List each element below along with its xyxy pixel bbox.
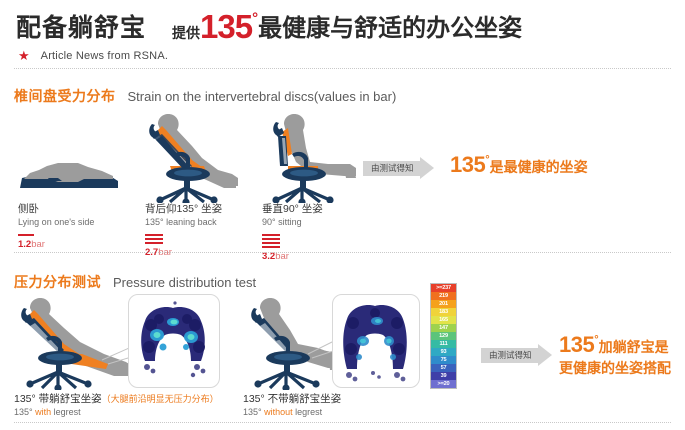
header-title-row: 配备躺舒宝 提供 135 ° 最健康与舒适的办公坐姿: [16, 8, 522, 43]
caption-lying-on-side: 侧卧 Lying on one's side 1.2bar: [18, 202, 94, 250]
caption-en: 135° with legrest: [14, 406, 219, 419]
conclusion-text-line1: 加躺舒宝是: [599, 339, 669, 355]
section1-divider: [14, 252, 671, 253]
arrow-head-icon: [538, 344, 552, 366]
lying-on-side-figure: [14, 148, 124, 201]
conclusion-angle: 135: [559, 332, 594, 357]
strain-bars: [262, 234, 323, 248]
header-angle-group: 提供 135 ° 最健康与舒适的办公坐姿: [172, 8, 522, 43]
conclusion-degree: °: [485, 154, 489, 166]
caption-en-emphasis: without: [264, 407, 293, 417]
page-title: 配备躺舒宝: [16, 13, 146, 43]
conclusion-angle: 135: [450, 152, 485, 177]
source-note: Article News from RSNA.: [41, 50, 168, 62]
arrow-head-icon: [420, 157, 434, 179]
caption-cn: 垂直90° 坐姿: [262, 202, 323, 216]
legend-row: 39: [431, 372, 456, 380]
header-subtitle: 最健康与舒适的办公坐姿: [258, 15, 522, 43]
header-angle-value: 135: [200, 10, 252, 43]
pressure-color-scale: >=237 219 201 183 165 147 129 111 93 75 …: [430, 283, 457, 389]
conclusion-text-line2: 更健康的坐姿搭配: [559, 358, 671, 378]
chair-leaning-back-135-figure: [140, 108, 252, 208]
section-pressure: 压力分布测试 Pressure distribution test: [0, 266, 685, 430]
strain-value: 1.2bar: [18, 239, 94, 250]
strain-bars: [18, 234, 94, 236]
section2-arrow-label: 由测试得知: [481, 348, 538, 363]
provide-label: 提供: [172, 23, 200, 43]
section2-divider: [14, 422, 671, 423]
page-header: 配备躺舒宝 提供 135 ° 最健康与舒适的办公坐姿 ★ Article New…: [0, 0, 685, 72]
section1-heading: 椎间盘受力分布 Strain on the intervertebral dis…: [14, 86, 396, 106]
conclusion-degree: °: [594, 334, 598, 346]
caption-leaning-back-135: 背后仰135° 坐姿 135° leaning back 2.7bar: [145, 202, 222, 258]
caption-en-emphasis: with: [35, 407, 51, 417]
section2-heading: 压力分布测试 Pressure distribution test: [14, 272, 256, 292]
infographic-page: 配备躺舒宝 提供 135 ° 最健康与舒适的办公坐姿 ★ Article New…: [0, 0, 685, 430]
header-divider: [14, 68, 671, 69]
caption-cn-note: （大腿前沿明显无压力分布）: [102, 394, 219, 404]
caption-cn: 135° 不带躺舒宝坐姿: [243, 393, 341, 405]
caption-cn: 背后仰135° 坐姿: [145, 202, 222, 216]
strain-bars: [145, 234, 222, 244]
legend-row: 129: [431, 332, 456, 340]
caption-cn: 侧卧: [18, 202, 94, 216]
section2-arrow: 由测试得知: [481, 344, 552, 366]
caption-en: 90° sitting: [262, 216, 323, 229]
section1-heading-cn: 椎间盘受力分布: [14, 86, 116, 106]
legend-row: 183: [431, 308, 456, 316]
conclusion-text: 是最健康的坐姿: [490, 159, 588, 175]
legend-row: 111: [431, 340, 456, 348]
caption-cn-row: 135° 带躺舒宝坐姿（大腿前沿明显无压力分布）: [14, 392, 219, 406]
header-degree-symbol: °: [252, 10, 258, 27]
source-note-row: ★ Article News from RSNA.: [18, 49, 168, 62]
chair-upright-90-figure: [258, 108, 366, 208]
star-icon: ★: [18, 49, 30, 62]
legend-row: 219: [431, 292, 456, 300]
caption-with-legrest: 135° 带躺舒宝坐姿（大腿前沿明显无压力分布） 135° with legre…: [14, 392, 219, 419]
caption-en: 135° without legrest: [243, 406, 341, 419]
section1-conclusion: 135°是最健康的坐姿: [450, 152, 588, 178]
legend-row: 201: [431, 300, 456, 308]
legend-row: >=20: [431, 380, 456, 388]
pressure-map-without-legrest: [332, 294, 420, 388]
legend-row: 57: [431, 364, 456, 372]
section2-conclusion: 135°加躺舒宝是 更健康的坐姿搭配: [559, 332, 671, 378]
caption-without-legrest: 135° 不带躺舒宝坐姿 135° without legrest: [243, 392, 341, 419]
caption-upright-90: 垂直90° 坐姿 90° sitting 3.2bar: [262, 202, 323, 262]
section1-arrow-label: 由测试得知: [363, 161, 420, 176]
caption-cn-row: 135° 不带躺舒宝坐姿: [243, 392, 341, 406]
caption-en: Lying on one's side: [18, 216, 94, 229]
legend-row: >=237: [431, 284, 456, 292]
legend-row: 165: [431, 316, 456, 324]
caption-cn: 135° 带躺舒宝坐姿: [14, 393, 102, 405]
section-strain: 椎间盘受力分布 Strain on the intervertebral dis…: [0, 78, 685, 258]
section2-heading-cn: 压力分布测试: [14, 272, 101, 292]
section1-arrow: 由测试得知: [363, 157, 434, 179]
caption-en: 135° leaning back: [145, 216, 222, 229]
legend-row: 75: [431, 356, 456, 364]
pressure-map-with-legrest: [128, 294, 220, 388]
section2-heading-en: Pressure distribution test: [113, 275, 256, 290]
legend-row: 147: [431, 324, 456, 332]
section1-heading-en: Strain on the intervertebral discs(value…: [128, 89, 397, 104]
legend-row: 93: [431, 348, 456, 356]
